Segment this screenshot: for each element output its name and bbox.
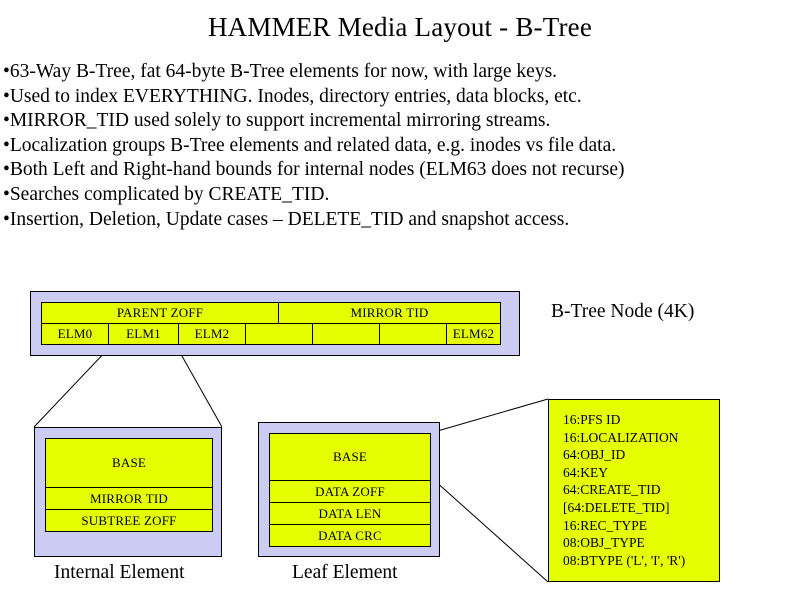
detail-line: 64:OBJ_ID <box>563 446 719 464</box>
bullet-marker-icon: • <box>3 209 10 230</box>
detail-line: 64:CREATE_TID <box>563 481 719 499</box>
btree-node-elm0-cell: ELM0 <box>41 323 109 345</box>
detail-line: 16:REC_TYPE <box>563 517 719 535</box>
btree-node-caption: B-Tree Node (4K) <box>551 301 694 323</box>
cell-label: PARENT ZOFF <box>117 305 203 321</box>
detail-line: 08:BTYPE ('L', 'I', 'R') <box>563 552 719 570</box>
btree-node-elm62-cell: ELM62 <box>446 323 501 345</box>
cell-label: ELM0 <box>58 326 93 342</box>
leaf-element-data-crc-cell: DATA CRC <box>269 524 431 547</box>
leaf-element-caption: Leaf Element <box>292 562 398 584</box>
bullet-marker-icon: • <box>3 61 10 82</box>
connector-leaf-to-detail-bottom <box>434 480 548 582</box>
bullet-marker-icon: • <box>3 110 10 131</box>
leaf-element-diagram: BASE DATA ZOFF DATA LEN DATA CRC <box>258 422 440 557</box>
bullet-marker-icon: • <box>3 184 10 205</box>
leaf-element-data-zoff-cell: DATA ZOFF <box>269 480 431 503</box>
list-item: •Insertion, Deletion, Update cases – DEL… <box>3 208 763 233</box>
btree-node-elm2-cell: ELM2 <box>178 323 246 345</box>
internal-element-mirror-tid-cell: MIRROR TID <box>45 487 213 510</box>
internal-element-caption: Internal Element <box>54 562 184 584</box>
btree-node-empty-cell-2 <box>312 323 380 345</box>
list-item: •63-Way B-Tree, fat 64-byte B-Tree eleme… <box>3 60 763 85</box>
bullet-marker-icon: • <box>3 135 10 156</box>
list-item-label: Used to index EVERYTHING. Inodes, direct… <box>10 86 582 107</box>
list-item-label: Both Left and Right-hand bounds for inte… <box>10 159 625 180</box>
cell-label: MIRROR TID <box>351 305 429 321</box>
page-title: HAMMER Media Layout - B-Tree <box>0 10 800 44</box>
list-item-label: 63-Way B-Tree, fat 64-byte B-Tree elemen… <box>10 61 557 82</box>
leaf-element-base-cell: BASE <box>269 433 431 481</box>
cell-label: SUBTREE ZOFF <box>81 513 176 529</box>
detail-line: 16:PFS ID <box>563 411 719 429</box>
list-item: •MIRROR_TID used solely to support incre… <box>3 109 763 134</box>
list-item-label: Localization groups B-Tree elements and … <box>10 135 616 156</box>
detail-line: 16:LOCALIZATION <box>563 429 719 447</box>
cell-label: BASE <box>112 455 146 471</box>
internal-element-base-cell: BASE <box>45 438 213 488</box>
connector-node-to-internal-left <box>34 349 108 427</box>
bullet-marker-icon: • <box>3 86 10 107</box>
bullet-marker-icon: • <box>3 159 10 180</box>
cell-label: DATA CRC <box>318 528 382 544</box>
cell-label: DATA ZOFF <box>315 484 385 500</box>
cell-label: DATA LEN <box>318 506 381 522</box>
list-item-label: Searches complicated by CREATE_TID. <box>10 184 330 205</box>
btree-node-elm1-cell: ELM1 <box>108 323 179 345</box>
btree-node-empty-cell-1 <box>245 323 313 345</box>
internal-element-diagram: BASE MIRROR TID SUBTREE ZOFF <box>34 427 222 557</box>
btree-node-empty-cell-3 <box>379 323 447 345</box>
btree-node-diagram: PARENT ZOFF MIRROR TID ELM0 ELM1 ELM2 EL… <box>30 291 520 356</box>
cell-label: ELM2 <box>195 326 230 342</box>
list-item-label: Insertion, Deletion, Update cases – DELE… <box>10 209 569 230</box>
cell-label: MIRROR TID <box>90 491 168 507</box>
internal-element-subtree-zoff-cell: SUBTREE ZOFF <box>45 509 213 532</box>
connector-leaf-to-detail-top <box>434 399 548 432</box>
detail-line: 64:KEY <box>563 464 719 482</box>
cell-label: ELM1 <box>126 326 161 342</box>
cell-label: BASE <box>333 449 367 465</box>
btree-node-header-cell-mirror-tid: MIRROR TID <box>278 302 501 324</box>
connector-node-to-internal-right <box>178 349 222 427</box>
bullet-list: •63-Way B-Tree, fat 64-byte B-Tree eleme… <box>3 60 763 232</box>
cell-label: ELM62 <box>453 326 494 342</box>
list-item: •Localization groups B-Tree elements and… <box>3 134 763 159</box>
base-detail-panel: 16:PFS ID 16:LOCALIZATION 64:OBJ_ID 64:K… <box>548 399 720 582</box>
list-item-label: MIRROR_TID used solely to support increm… <box>10 110 551 131</box>
detail-line: 08:OBJ_TYPE <box>563 534 719 552</box>
list-item: •Used to index EVERYTHING. Inodes, direc… <box>3 85 763 110</box>
leaf-element-data-len-cell: DATA LEN <box>269 502 431 525</box>
list-item: •Both Left and Right-hand bounds for int… <box>3 158 763 183</box>
detail-line: [64:DELETE_TID] <box>563 499 719 517</box>
list-item: •Searches complicated by CREATE_TID. <box>3 183 763 208</box>
btree-node-header-cell-parent-zoff: PARENT ZOFF <box>41 302 279 324</box>
